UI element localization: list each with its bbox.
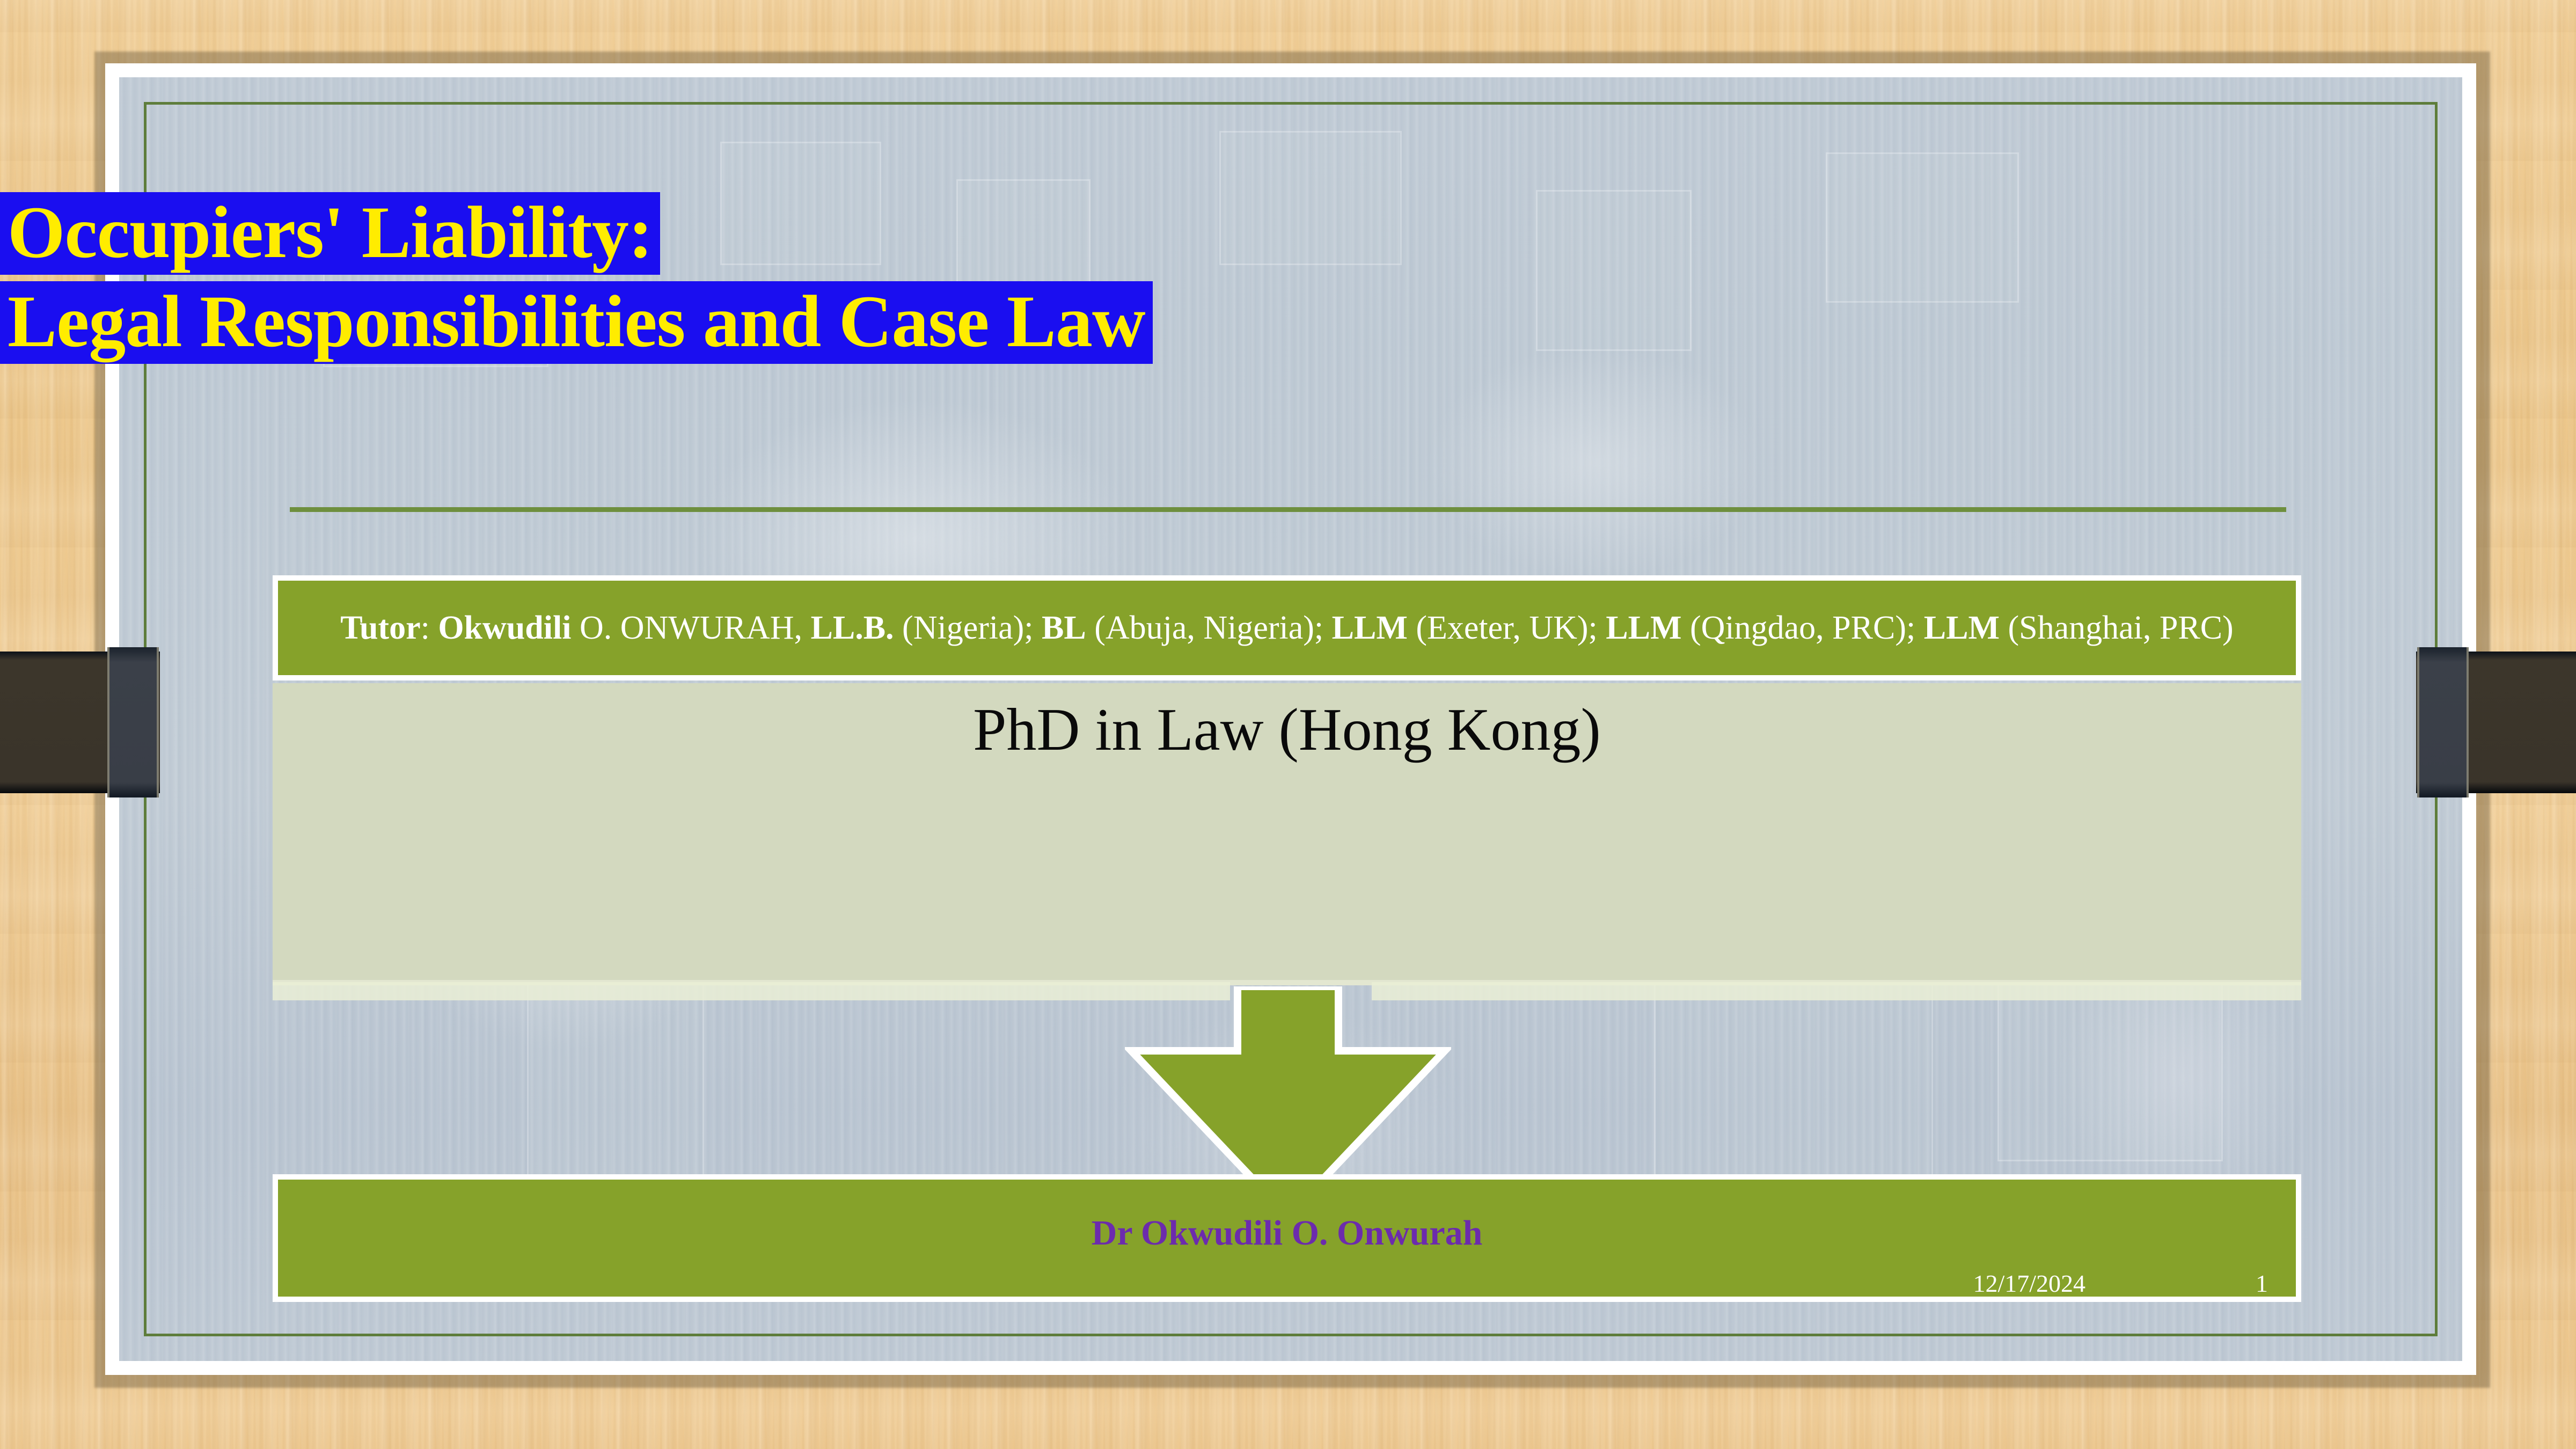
author-name: Dr Okwudili O. Onwurah [278, 1213, 2296, 1254]
left-side-bar-cap [107, 647, 159, 797]
tutor-credentials-text: Tutor: Okwudili O. ONWURAH, LL.B. (Niger… [340, 609, 2233, 647]
degree-text: PhD in Law (Hong Kong) [273, 697, 2301, 763]
credential-3-detail: (Exeter, UK); [1408, 610, 1606, 646]
tutor-name-bold: Okwudili [438, 610, 571, 646]
title-divider-line [290, 507, 2286, 512]
credential-2-detail: (Abuja, Nigeria); [1086, 610, 1332, 646]
content-panel: Tutor: Okwudili O. ONWURAH, LL.B. (Niger… [273, 571, 2301, 985]
degree-panel-inner: PhD in Law (Hong Kong) [273, 683, 2301, 763]
credential-5-abbr: LLM [1924, 610, 2000, 646]
slide-title-line-1: Occupiers' Liability: [0, 192, 660, 275]
credential-3-abbr: LLM [1332, 610, 1408, 646]
tutor-credentials-banner: Tutor: Okwudili O. ONWURAH, LL.B. (Niger… [273, 575, 2301, 680]
slide-title-line-1-wrapper: Occupiers' Liability: [0, 192, 2576, 275]
author-banner: Dr Okwudili O. Onwurah 12/17/2024 1 [273, 1174, 2301, 1302]
tutor-name-rest: O. ONWURAH, [571, 610, 810, 646]
slide-title-line-2-wrapper: Legal Responsibilities and Case Law [0, 281, 2576, 364]
right-side-bar-cap [2417, 647, 2469, 797]
credential-2-abbr: BL [1042, 610, 1086, 646]
slide-title-line-2: Legal Responsibilities and Case Law [0, 281, 1153, 364]
footer-date: 12/17/2024 [1973, 1269, 2085, 1298]
credential-5-detail: (Shanghai, PRC) [2000, 610, 2234, 646]
credential-4-detail: (Qingdao, PRC); [1682, 610, 1924, 646]
degree-panel: PhD in Law (Hong Kong) [273, 683, 2301, 980]
panel-under-strip-right [1372, 982, 2301, 1000]
credential-1-abbr: LL.B. [810, 610, 894, 646]
credential-1-detail: (Nigeria); [894, 610, 1042, 646]
panel-under-strip-left [273, 982, 1230, 1000]
tutor-separator: : [421, 610, 438, 646]
tutor-label: Tutor [340, 610, 420, 646]
footer-page-number: 1 [2256, 1269, 2268, 1298]
credential-4-abbr: LLM [1606, 610, 1681, 646]
